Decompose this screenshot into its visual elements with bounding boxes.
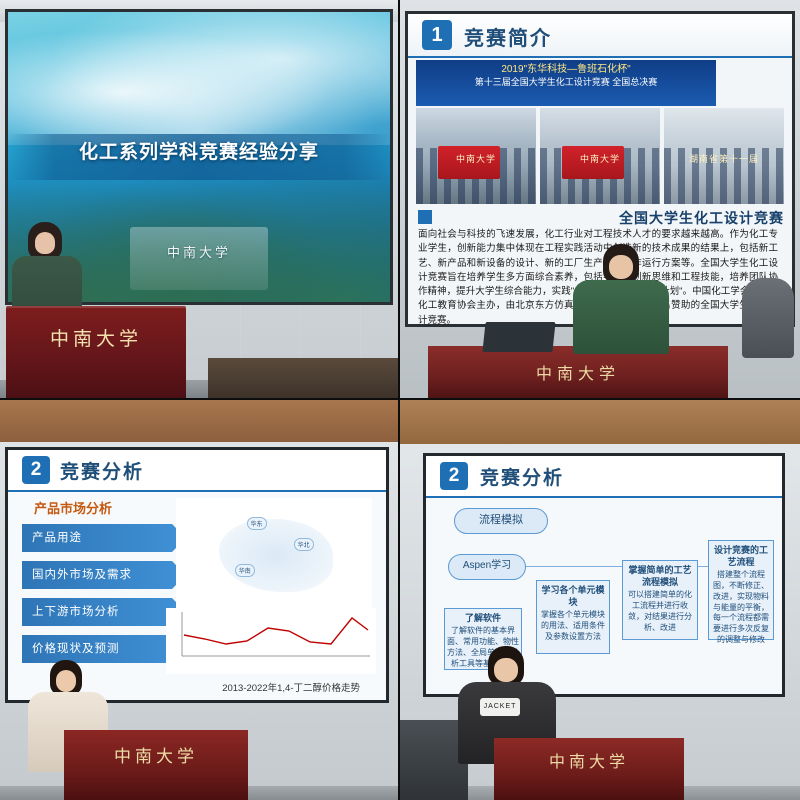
chart-svg: [166, 608, 376, 664]
flow-node-title: 学习各个单元模块: [539, 584, 607, 608]
flow-node-body: 掌握各个单元模块的用法、适用条件及参数设置方法: [541, 610, 605, 641]
panel-bottom-right: 2 竞赛分析 流程模拟 Aspen学习 了解软件 了解软件的基本界面、常用功能、…: [398, 398, 800, 800]
flow-node-title: 掌握简单的工艺流程模拟: [625, 564, 695, 588]
competition-banner: 2019"东华科技—鲁班石化杯" 第十三届全国大学生化工设计竞赛 全国总决赛: [416, 60, 716, 106]
wood-wall: [0, 398, 398, 442]
podium: 中南大学: [6, 306, 186, 398]
china-market-map: 华东 华北 华南: [176, 498, 372, 616]
photo-strip: 中南大学 中南大学 湖南省第十一届: [416, 108, 784, 204]
chart-caption: 2013-2022年1,4-丁二醇价格走势: [222, 680, 360, 694]
presenter-body: [573, 280, 669, 354]
podium: 中南大学: [494, 738, 684, 800]
arrow-item: 产品用途: [22, 524, 172, 552]
panel-top-right: 1 竞赛简介 2019"东华科技—鲁班石化杯" 第十三届全国大学生化工设计竞赛 …: [398, 0, 800, 398]
flow-node-body: 搭建整个流程图，不断修正、改进，实现物料与能量的平衡，每一个流程都需要进行多次反…: [713, 570, 769, 644]
map-bubble: 华北: [294, 538, 314, 551]
sky-clouds: [8, 12, 390, 145]
banner-line-2: 第十三届全国大学生化工设计竞赛 全国总决赛: [416, 77, 716, 88]
wood-wall: [398, 398, 800, 444]
desk-label: 中南大学: [428, 360, 728, 384]
slide-title: 竞赛分析: [480, 463, 564, 490]
slide-number-badge: 2: [440, 462, 468, 490]
presenter-face: [494, 658, 518, 682]
map-outline: [219, 519, 333, 592]
map-bubble: 华东: [247, 517, 267, 530]
slide-title: 竞赛分析: [60, 457, 144, 484]
section-pill: 流程模拟: [454, 508, 548, 534]
panel-top-left: 化工系列学科竞赛经验分享 中南大学 中南大学: [0, 0, 398, 398]
flow-node: 设计竞赛的工艺流程 搭建整个流程图，不断修正、改进，实现物料与能量的平衡，每一个…: [708, 540, 774, 640]
presenter-figure: [573, 244, 669, 354]
presenter-face: [35, 232, 55, 254]
arrow-item: 价格现状及预测: [22, 635, 172, 663]
flow-node: 掌握简单的工艺流程模拟 可以搭建简单的化工流程并进行收敛，对结果进行分析、改进: [622, 560, 698, 640]
section-label: 产品市场分析: [34, 498, 112, 517]
arrow-item: 国内外市场及需求: [22, 561, 172, 589]
subsection-pill: Aspen学习: [448, 554, 526, 580]
flow-node-title: 了解软件: [447, 612, 519, 624]
presenter-face: [609, 255, 633, 279]
team-photo-2: 中南大学: [540, 108, 660, 204]
collage-divider-horizontal: [0, 398, 800, 400]
flow-node: 学习各个单元模块 掌握各个单元模块的用法、适用条件及参数设置方法: [536, 580, 610, 654]
podium-label: 中南大学: [494, 748, 684, 772]
bullet-marker: [418, 210, 432, 224]
team-flag-text: 中南大学: [580, 152, 620, 165]
slide-number-badge: 2: [22, 456, 50, 484]
arrow-item: 上下游市场分析: [22, 598, 172, 626]
presenter-face: [56, 670, 76, 692]
team-flag-text: 中南大学: [456, 152, 496, 165]
arrow-list: 产品用途 国内外市场及需求 上下游市场分析 价格现状及预测: [22, 524, 172, 672]
price-trend-chart: [166, 608, 376, 674]
university-caption: 中南大学: [167, 242, 231, 261]
audience-member: [742, 278, 794, 358]
slide-subheading: 全国大学生化工设计竞赛: [619, 208, 784, 228]
photo-collage: 化工系列学科竞赛经验分享 中南大学 中南大学 1 竞赛简介 2019"东华科技—…: [0, 0, 800, 800]
map-bubble: 华南: [235, 564, 255, 577]
collage-divider-vertical: [398, 0, 400, 800]
slide-title: 竞赛简介: [464, 22, 552, 51]
podium: 中南大学: [64, 730, 248, 800]
flow-node-body: 可以搭建简单的化工流程并进行收敛，对结果进行分析、改进: [628, 590, 692, 631]
side-desk: [208, 358, 398, 398]
shirt-logo: JACKET: [480, 698, 520, 716]
podium-label: 中南大学: [6, 324, 186, 351]
panel-bottom-left: 2 竞赛分析 产品市场分析 产品用途 国内外市场及需求 上下游市场分析 价格现状…: [0, 398, 398, 800]
award-caption: 湖南省第十一届: [689, 152, 759, 165]
laptop: [482, 322, 555, 352]
flow-node-title: 设计竞赛的工艺流程: [711, 544, 771, 568]
slide-number-badge: 1: [422, 20, 452, 50]
slide-title: 化工系列学科竞赛经验分享: [8, 137, 390, 164]
podium-label: 中南大学: [64, 742, 248, 767]
team-photo-1: 中南大学: [416, 108, 536, 204]
banner-line-1: 2019"东华科技—鲁班石化杯": [416, 64, 716, 77]
team-photo-3: 湖南省第十一届: [664, 108, 784, 204]
